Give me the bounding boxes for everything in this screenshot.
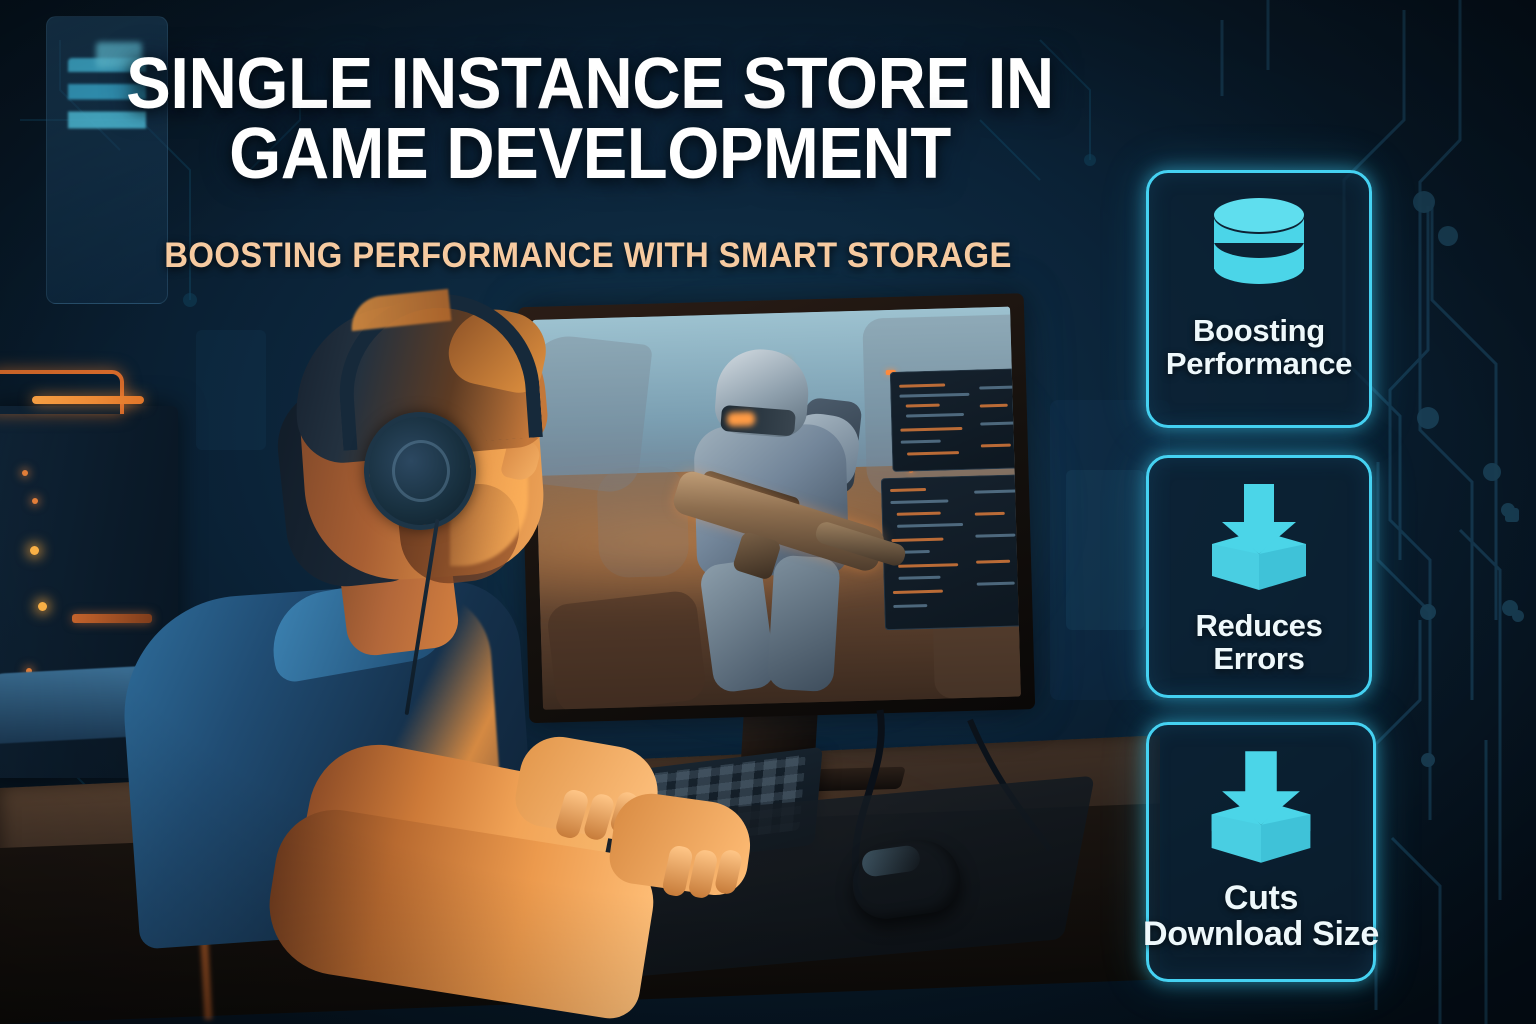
page-subtitle: BOOSTING PERFORMANCE WITH SMART STORAGE [35,236,1140,276]
gamer-person [120,290,740,930]
card-label: Boosting Performance [1166,314,1352,380]
feature-card-reduces-errors[interactable]: Reduces Errors [1146,455,1372,698]
feature-card-boosting-performance[interactable]: Boosting Performance [1146,170,1372,428]
page-title: SINGLE INSTANCE STORE IN GAME DEVELOPMEN… [41,50,1138,190]
database-icon [1201,195,1317,304]
card-label: Cuts Download Size [1111,880,1411,953]
card-label: Reduces Errors [1195,609,1322,675]
download-box-icon [1200,478,1318,601]
poster-canvas: SINGLE INSTANCE STORE IN GAME DEVELOPMEN… [0,0,1536,1024]
feature-card-cuts-download-size[interactable]: Cuts Download Size [1146,722,1376,982]
download-box-icon [1199,745,1323,874]
